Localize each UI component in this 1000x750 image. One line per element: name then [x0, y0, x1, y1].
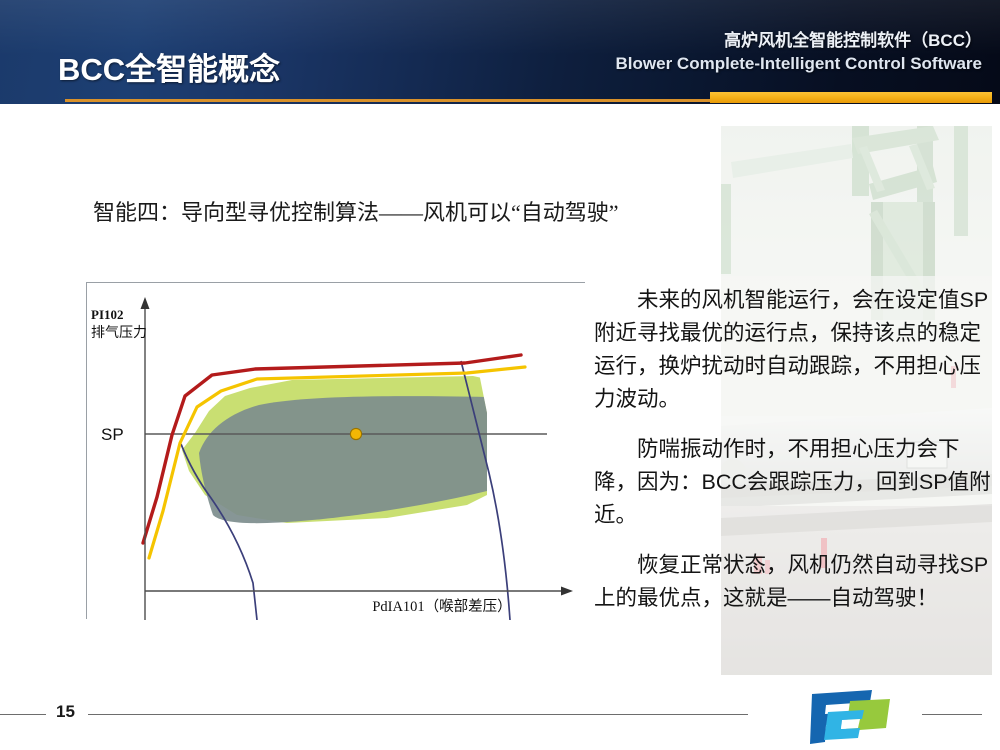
- header-subtitle: 高炉风机全智能控制软件（BCC） Blower Complete-Intelli…: [616, 30, 982, 75]
- body-paragraph-3: 恢复正常状态，风机仍然自动寻找SP上的最优点，这就是——自动驾驶！: [594, 549, 994, 615]
- header-subtitle-en: Blower Complete-Intelligent Control Soft…: [616, 53, 982, 74]
- footer-rule-middle: [88, 714, 748, 715]
- header-subtitle-cn: 高炉风机全智能控制软件（BCC）: [616, 30, 982, 51]
- chart-y-label-line2: 排气压力: [91, 324, 147, 340]
- header-rule-thin: [65, 99, 710, 102]
- page-number: 15: [56, 702, 75, 722]
- chart-sp-label: SP: [101, 425, 124, 444]
- body-copy: 未来的风机智能运行，会在设定值SP附近寻找最优的运行点，保持该点的稳定运行，换炉…: [594, 284, 994, 615]
- slide-root: BCC全智能概念 高炉风机全智能控制软件（BCC） Blower Complet…: [0, 0, 1000, 750]
- body-paragraph-2: 防喘振动作时，不用担心压力会下降，因为：BCC会跟踪压力，回到SP值附近。: [594, 433, 994, 532]
- page-title: BCC全智能概念: [58, 44, 280, 89]
- performance-chart: PI102 排气压力 SP PdIA101（喉部差压）: [86, 282, 585, 619]
- footer-rule-right: [922, 714, 982, 715]
- chart-x-label: PdIA101（喉部差压）: [372, 598, 511, 615]
- slide-header: BCC全智能概念 高炉风机全智能控制软件（BCC） Blower Complet…: [0, 0, 1000, 104]
- company-logo-svg: [798, 688, 894, 746]
- footer-rule-left: [0, 714, 46, 715]
- section-heading: 智能四：导向型寻优控制算法——风机可以“自动驾驶”: [93, 195, 619, 227]
- header-rule-thick: [710, 92, 992, 103]
- chart-y-label-line1: PI102: [91, 307, 124, 322]
- company-logo: [798, 688, 894, 746]
- logo-shape-notch: [841, 719, 860, 729]
- chart-operating-point[interactable]: [350, 428, 361, 439]
- body-paragraph-1: 未来的风机智能运行，会在设定值SP附近寻找最优的运行点，保持该点的稳定运行，换炉…: [594, 284, 994, 416]
- chart-svg: PI102 排气压力 SP PdIA101（喉部差压）: [87, 283, 586, 620]
